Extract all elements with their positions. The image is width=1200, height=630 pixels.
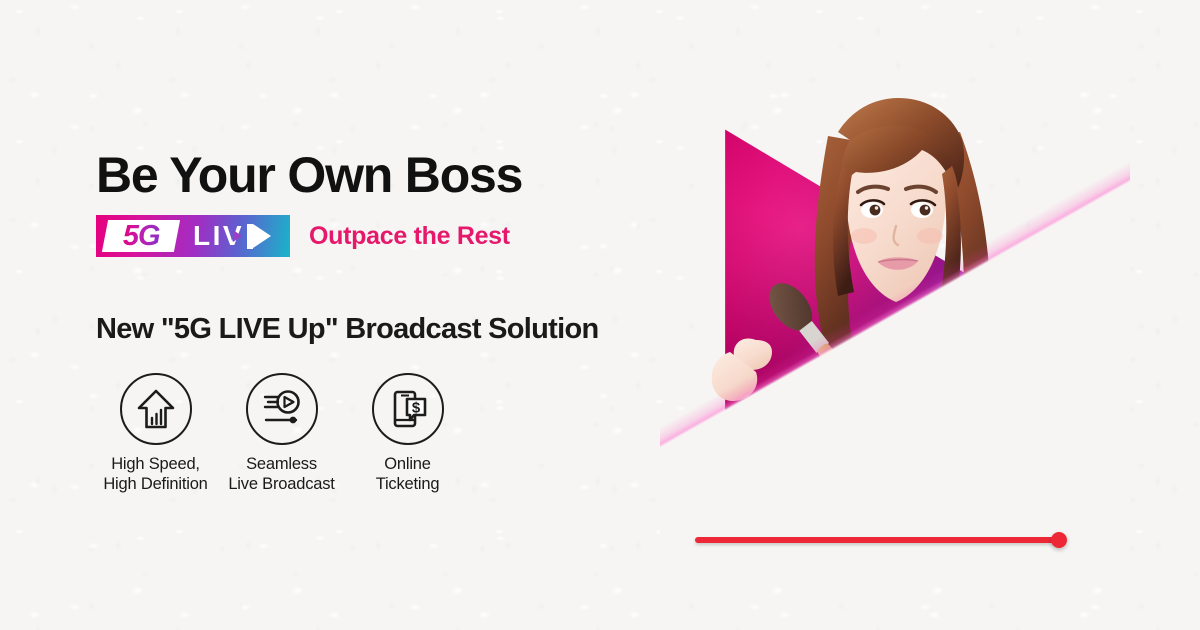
feature-item-live-broadcast: Seamless Live Broadcast [222,373,341,494]
feature-icon-circle [120,373,192,445]
feature-label-line1: Seamless [222,454,341,474]
text-panel: Be Your Own Boss 5G LIV Outpace the Rest… [96,150,656,494]
hero-visual [660,40,1130,580]
play-speedlines-icon [258,385,306,433]
white-diagonal-sweep [660,40,1130,580]
feature-label: Seamless Live Broadcast [222,454,341,494]
feature-label-line1: Online [348,454,467,474]
feature-item-high-speed: High Speed, High Definition [96,373,215,494]
feature-item-online-ticketing: $ Online Ticketing [348,373,467,494]
tagline: Outpace the Rest [309,222,510,251]
up-arrow-bars-icon [133,386,179,432]
phone-money-bubble-icon: $ [385,386,431,432]
live-word: LIV [193,222,271,250]
subheadline: New "5G LIVE Up" Broadcast Solution [96,313,656,346]
accent-line-endpoint [1051,532,1067,548]
feature-label: High Speed, High Definition [96,454,215,494]
5g-live-badge: 5G LIV [96,215,290,257]
accent-line [695,537,1062,543]
page-title: Be Your Own Boss [96,150,656,200]
feature-label-line2: Ticketing [348,474,467,494]
badge-row: 5G LIV Outpace the Rest [96,215,656,257]
feature-label-line2: Live Broadcast [222,474,341,494]
5g-box: 5G [102,220,180,252]
feature-label-line2: High Definition [96,474,215,494]
feature-label: Online Ticketing [348,454,467,494]
feature-icon-circle: $ [372,373,444,445]
feature-list: High Speed, High Definition Seamless [96,373,656,494]
5g-label: 5G [123,222,160,251]
svg-text:$: $ [411,400,420,417]
feature-icon-circle [246,373,318,445]
live-play-e-icon [247,224,271,249]
feature-label-line1: High Speed, [96,454,215,474]
